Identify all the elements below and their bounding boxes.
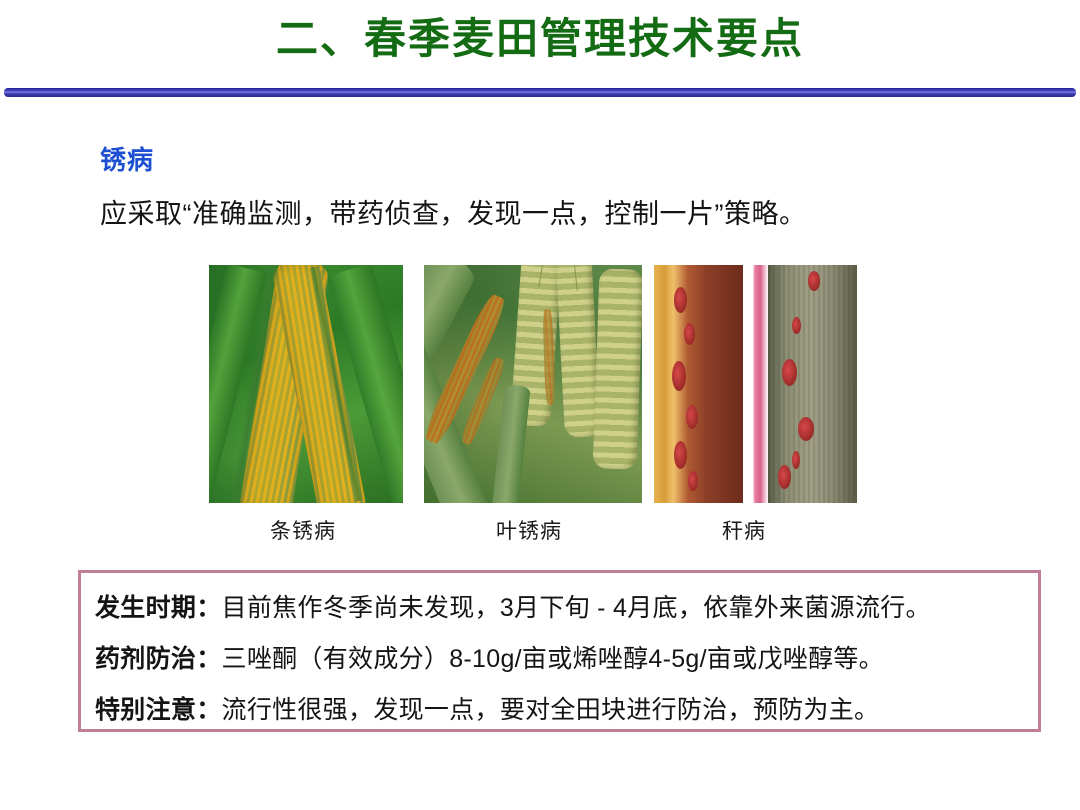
photo-caption-stem-rust: 秆病 [694, 515, 794, 545]
stem-panel-left [654, 265, 743, 503]
title-divider [4, 88, 1076, 97]
photo-leaf-rust [424, 265, 642, 503]
rust-pustule [688, 471, 698, 491]
wheat-spike [593, 268, 642, 469]
panel-divider [743, 265, 767, 503]
note-text: 流行性很强，发现一点，要对全田块进行防治，预防为主。 [222, 696, 880, 724]
note-line-occurrence-period: 发生时期：目前焦作冬季尚未发现，3月下旬 - 4月底，依靠外来菌源流行。 [95, 588, 931, 624]
note-label: 特别注意 [95, 696, 196, 724]
rust-pustule [684, 323, 695, 345]
rust-pustule [808, 271, 820, 291]
photo-caption-stripe-rust: 条锈病 [240, 515, 366, 545]
rust-pustule [782, 359, 797, 386]
photo-caption-leaf-rust: 叶锈病 [466, 515, 592, 545]
lead-paragraph: 应采取“准确监测，带药侦查，发现一点，控制一片”策略。 [100, 192, 806, 231]
rust-pustule [674, 441, 687, 469]
rust-pustule [674, 287, 687, 313]
note-colon: ： [196, 696, 221, 724]
section-heading-rust-disease: 锈病 [100, 140, 154, 177]
note-box: 发生时期：目前焦作冬季尚未发现，3月下旬 - 4月底，依靠外来菌源流行。 药剂防… [78, 570, 1041, 732]
rust-pustule [778, 465, 791, 489]
note-line-special-attention: 特别注意：流行性很强，发现一点，要对全田块进行防治，预防为主。 [95, 690, 879, 726]
note-label: 药剂防治 [95, 645, 196, 673]
note-colon: ： [196, 645, 221, 673]
photo-stripe-rust [209, 265, 403, 503]
note-text: 三唑酮（有效成分）8-10g/亩或烯唑醇4-5g/亩或戊唑醇等。 [222, 645, 884, 673]
stem-panel-right [768, 265, 857, 503]
rust-pustule [792, 451, 800, 469]
page-title: 二、春季麦田管理技术要点 [0, 8, 1080, 70]
rust-pustule [792, 317, 801, 334]
photo-row [209, 265, 857, 503]
note-label: 发生时期 [95, 594, 196, 622]
rust-pustule [798, 417, 814, 441]
rust-pustule [672, 361, 686, 391]
note-line-chemical-control: 药剂防治：三唑酮（有效成分）8-10g/亩或烯唑醇4-5g/亩或戊唑醇等。 [95, 639, 884, 675]
note-text: 目前焦作冬季尚未发现，3月下旬 - 4月底，依靠外来菌源流行。 [222, 594, 931, 622]
note-colon: ： [196, 594, 221, 622]
rust-pustule [686, 405, 698, 429]
photo-stem-rust [654, 265, 857, 503]
